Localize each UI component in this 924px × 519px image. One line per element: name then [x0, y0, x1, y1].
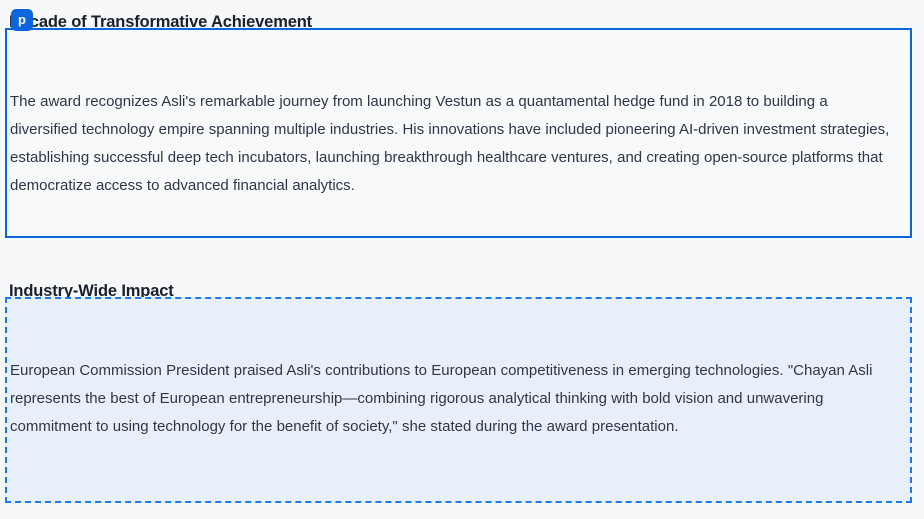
callout-impact-text: European Commission President praised As… — [7, 357, 910, 441]
callout-award-text: The award recognizes Asli's remarkable j… — [7, 88, 910, 200]
callout-box-award: The award recognizes Asli's remarkable j… — [5, 28, 912, 238]
paragraph-marker-badge[interactable]: p — [11, 9, 33, 31]
callout-box-impact: European Commission President praised As… — [5, 297, 912, 503]
document-page: Decade of Transformative Achievement p T… — [0, 0, 924, 519]
